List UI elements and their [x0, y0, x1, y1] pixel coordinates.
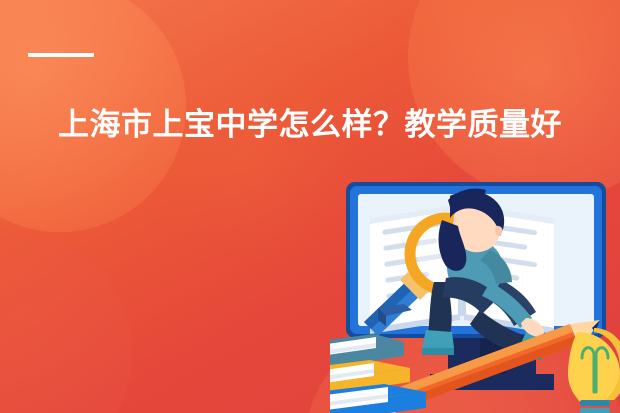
online-learning-illustration — [330, 178, 620, 413]
lightbulb-icon — [568, 328, 620, 413]
background-circle-bottom-left — [0, 228, 132, 413]
accent-bar — [28, 53, 94, 57]
background-circle-top-right — [408, 0, 620, 200]
promo-banner: 上海市上宝中学怎么样？教学质量好 — [0, 0, 620, 413]
page-title: 上海市上宝中学怎么样？教学质量好 — [0, 103, 620, 147]
background-circle-center — [150, 60, 350, 260]
